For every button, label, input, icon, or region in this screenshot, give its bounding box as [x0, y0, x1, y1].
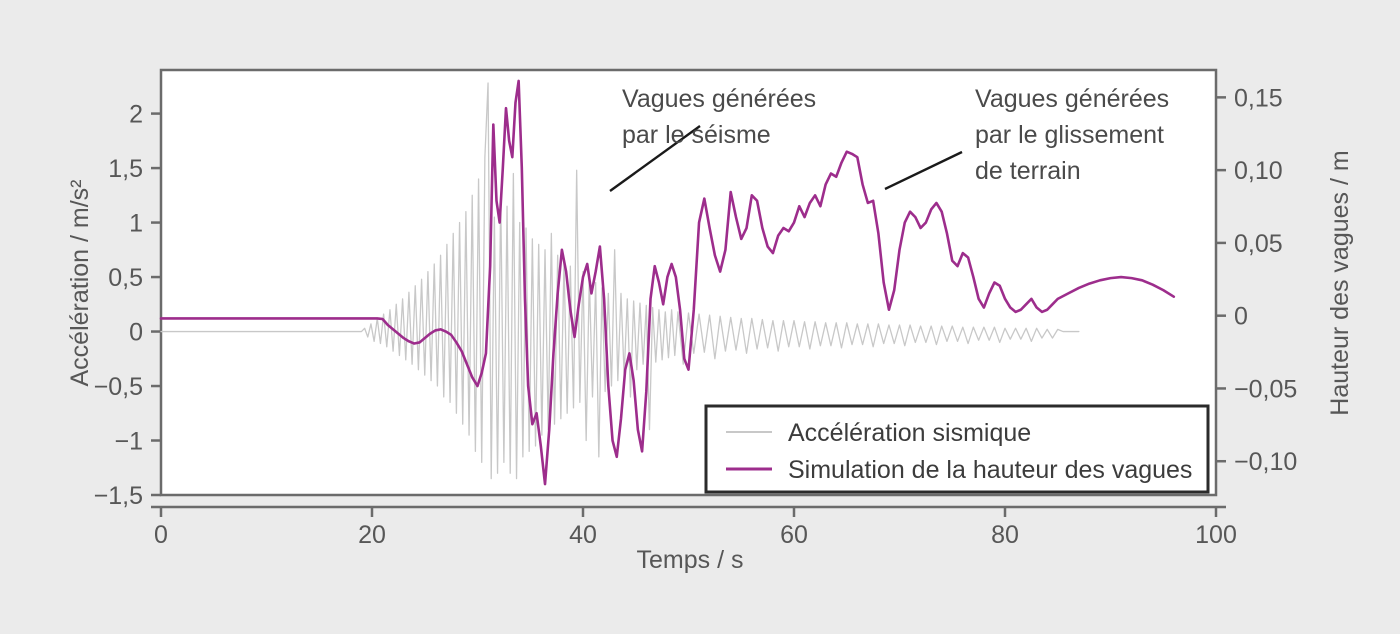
x-axis-tick-label: 20	[358, 521, 386, 549]
chart-canvas: −1,5−1−0,500,511,52 −0,10−0,0500,050,100…	[0, 0, 1400, 634]
annotation-line: par le glissement	[975, 121, 1164, 149]
x-axis-tick-labels: 020406080100	[154, 521, 1237, 549]
chart-legend: Accélération sismiqueSimulation de la ha…	[706, 406, 1208, 492]
y-axis-right-tick-label: 0,05	[1234, 230, 1283, 258]
legend-label: Simulation de la hauteur des vagues	[788, 456, 1192, 484]
x-axis-tick-label: 100	[1195, 521, 1237, 549]
y-axis-left-tick-label: 1,5	[108, 155, 143, 183]
y-axis-left-tick-label: −1,5	[94, 482, 143, 510]
x-axis-title: Temps / s	[637, 546, 744, 574]
y-axis-left-tick-label: 1	[129, 210, 143, 238]
x-axis-ticks	[151, 507, 1226, 517]
y-axis-right-tick-label: −0,05	[1234, 375, 1297, 403]
annotation-line: Vagues générées	[975, 85, 1169, 113]
y-axis-right-tick-label: 0	[1234, 303, 1248, 331]
y-axis-left-ticks	[151, 114, 161, 495]
x-axis-tick-label: 60	[780, 521, 808, 549]
y-axis-right-tick-label: 0,10	[1234, 157, 1283, 185]
chart-figure: −1,5−1−0,500,511,52 −0,10−0,0500,050,100…	[0, 0, 1400, 634]
x-axis-tick-label: 0	[154, 521, 168, 549]
y-axis-left-tick-label: 0	[129, 319, 143, 347]
y-axis-left-title: Accélération / m/s²	[66, 179, 94, 386]
x-axis-tick-label: 40	[569, 521, 597, 549]
y-axis-right-title: Hauteur des vagues / m	[1326, 150, 1354, 415]
y-axis-left-tick-label: −1	[114, 428, 143, 456]
legend-label: Accélération sismique	[788, 419, 1031, 447]
y-axis-left-tick-label: 2	[129, 101, 143, 129]
y-axis-left-tick-labels: −1,5−1−0,500,511,52	[94, 101, 143, 510]
annotation-line: par le séisme	[622, 121, 771, 149]
y-axis-right-ticks	[1216, 97, 1226, 461]
x-axis-tick-label: 80	[991, 521, 1019, 549]
y-axis-right-tick-labels: −0,10−0,0500,050,100,15	[1234, 84, 1297, 476]
y-axis-left-tick-label: 0,5	[108, 264, 143, 292]
y-axis-right-tick-label: 0,15	[1234, 84, 1283, 112]
annotation-line: de terrain	[975, 157, 1081, 185]
annotation-line: Vagues générées	[622, 85, 816, 113]
y-axis-left-tick-label: −0,5	[94, 373, 143, 401]
y-axis-right-tick-label: −0,10	[1234, 448, 1297, 476]
